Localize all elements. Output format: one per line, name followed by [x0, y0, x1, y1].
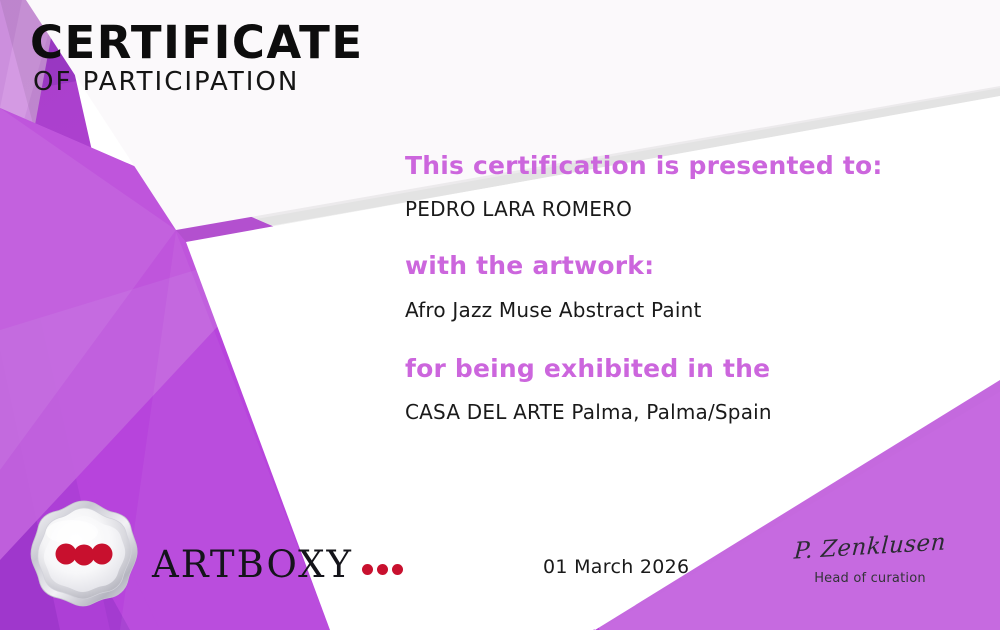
page-subtitle: OF PARTICIPATION [33, 68, 364, 97]
seal-dot-2 [74, 545, 95, 566]
wax-seal-icon [28, 498, 140, 610]
field-recipient-label: This certification is presented to: [405, 148, 965, 184]
certificate-body: This certification is presented to: PEDR… [405, 148, 965, 451]
field-artwork-label: with the artwork: [405, 248, 965, 284]
brand-dot-1 [362, 564, 373, 575]
field-artwork-value: Afro Jazz Muse Abstract Paint [405, 295, 965, 325]
brand-dots-icon [362, 564, 403, 575]
issue-date: 01 March 2026 [543, 556, 689, 578]
signature-role-label: Head of curation [770, 571, 970, 586]
field-venue-label: for being exhibited in the [405, 351, 965, 387]
field-recipient-value: PEDRO LARA ROMERO [405, 194, 965, 224]
field-venue-value: CASA DEL ARTE Palma, Palma/Spain [405, 397, 965, 427]
field-artwork: with the artwork: Afro Jazz Muse Abstrac… [405, 248, 965, 324]
brand-name: ARTBOXY [152, 546, 353, 583]
field-recipient: This certification is presented to: PEDR… [405, 148, 965, 224]
page-title: CERTIFICATE [30, 20, 364, 66]
signature-block: P. Zenklusen Head of curation [770, 536, 970, 586]
brand-dot-2 [377, 564, 388, 575]
certificate-page: CERTIFICATE OF PARTICIPATION This certif… [0, 0, 1000, 630]
seal-dot-1 [56, 544, 77, 565]
seal-dot-3 [92, 544, 113, 565]
field-venue: for being exhibited in the CASA DEL ARTE… [405, 351, 965, 427]
signature-icon: P. Zenklusen [769, 530, 970, 565]
brand-dot-3 [392, 564, 403, 575]
seal-highlight [46, 520, 98, 544]
certificate-title-block: CERTIFICATE OF PARTICIPATION [30, 20, 364, 97]
brand-logo: ARTBOXY [152, 546, 403, 583]
